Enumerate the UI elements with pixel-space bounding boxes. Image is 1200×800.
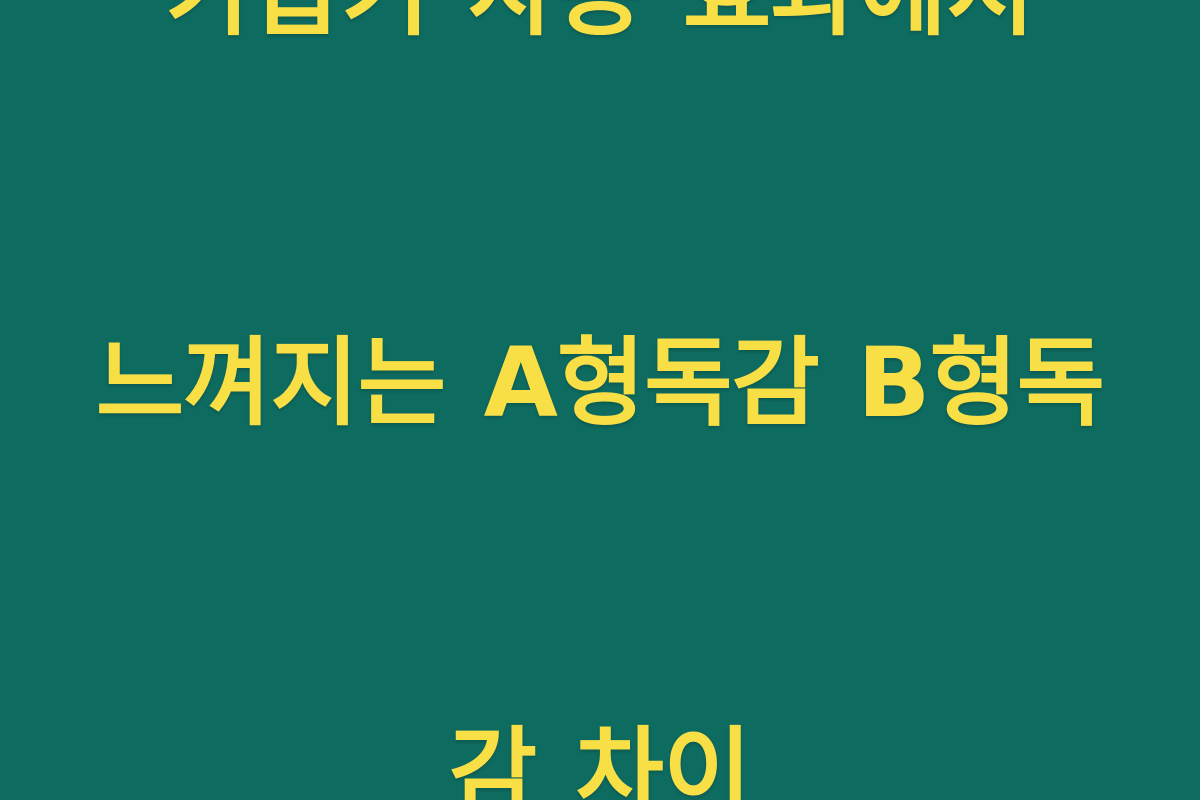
- page-title: 가습기 사용 효과에서 느껴지는 A형독감 B형독 감 차이: [55, 0, 1145, 800]
- headline-line-3: 감 차이: [55, 708, 1145, 800]
- headline-line-2: 느껴지는 A형독감 B형독: [55, 318, 1145, 448]
- headline-line-1: 가습기 사용 효과에서: [55, 0, 1145, 58]
- banner-canvas: 가습기 사용 효과에서 느껴지는 A형독감 B형독 감 차이: [0, 0, 1200, 800]
